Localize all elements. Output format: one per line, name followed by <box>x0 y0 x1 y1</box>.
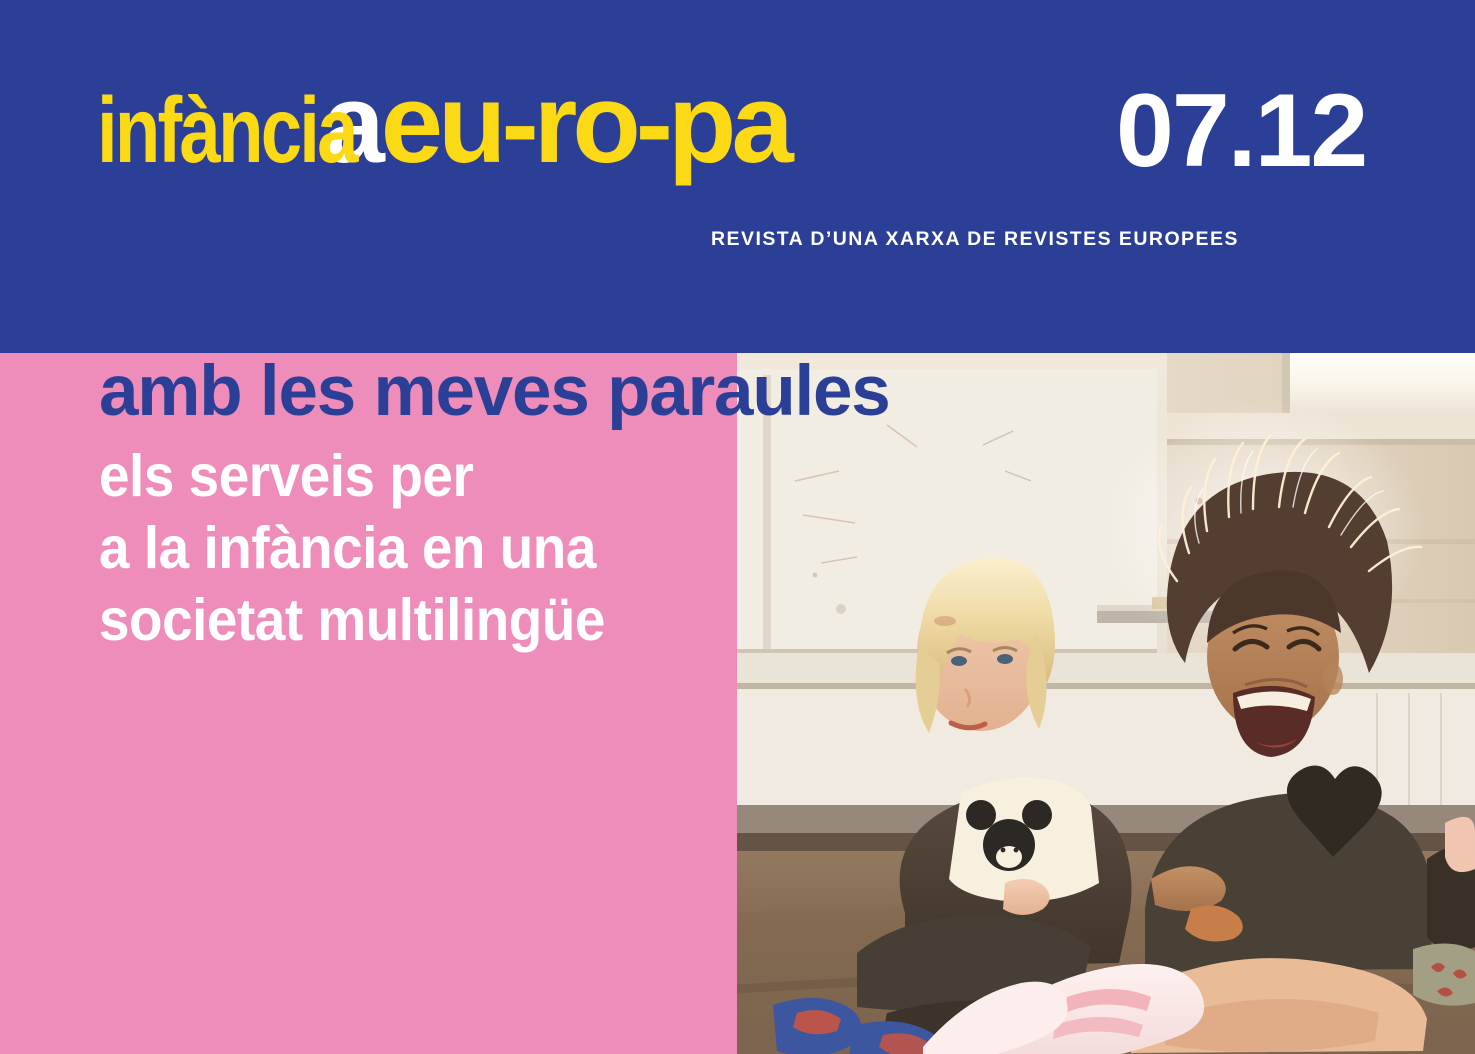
cover-photo <box>737 353 1475 1054</box>
strapline: REVISTA D’UNA XARXA DE REVISTES EUROPEES <box>711 228 1239 251</box>
cover-subhead-line-2: a la infància en una <box>99 512 704 584</box>
logo-word-infancia: infància <box>97 84 356 177</box>
masthead-band: infància a eu-ro-pa 07.12 REVISTA D’UNA … <box>0 0 1475 353</box>
cover-photo-illustration <box>737 353 1475 1054</box>
logo-word-europa: eu-ro-pa <box>381 68 789 180</box>
issue-number: 07.12 <box>1116 70 1366 193</box>
cover-subhead: els serveis per a la infància en una soc… <box>99 440 749 656</box>
cover-subhead-line-1: els serveis per <box>99 440 704 512</box>
magazine-cover: infància a eu-ro-pa 07.12 REVISTA D’UNA … <box>0 0 1475 1054</box>
cover-subhead-line-3: societat multilingüe <box>99 584 704 656</box>
magazine-logo: infància a eu-ro-pa <box>97 68 789 193</box>
cover-headline: amb les meves paraules <box>99 356 890 427</box>
